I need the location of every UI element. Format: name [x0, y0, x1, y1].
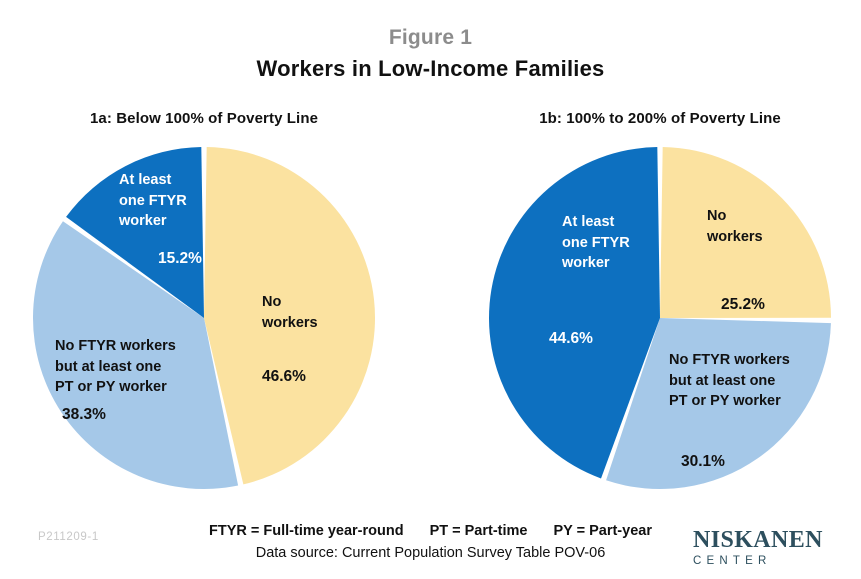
pie-1a-svg [24, 140, 384, 500]
abbr-pt: PT = Part-time [430, 523, 528, 539]
pie-1b-svg [482, 140, 838, 500]
figure-label: Figure 1 [0, 26, 861, 50]
abbr-ftyr: FTYR = Full-time year-round [209, 523, 404, 539]
slice-1b-no-workers[interactable] [660, 147, 831, 318]
pie-1b-slices [489, 147, 831, 489]
niskanen-center-logo: NISKANEN CENTER [693, 528, 853, 568]
pie-1a-slices [33, 147, 375, 489]
logo-wordmark: NISKANEN [693, 528, 853, 552]
pie-chart-1b [482, 140, 838, 500]
abbr-py: PY = Part-year [553, 523, 651, 539]
figure-title: Workers in Low-Income Families [0, 56, 861, 82]
slice-1a-no-workers[interactable] [204, 147, 375, 484]
panel-1a-subtitle: 1a: Below 100% of Poverty Line [30, 110, 378, 127]
document-id: P211209-1 [38, 531, 99, 543]
pie-chart-1a [24, 140, 384, 500]
panel-1b-subtitle: 1b: 100% to 200% of Poverty Line [486, 110, 834, 127]
logo-subtitle: CENTER [693, 556, 853, 568]
